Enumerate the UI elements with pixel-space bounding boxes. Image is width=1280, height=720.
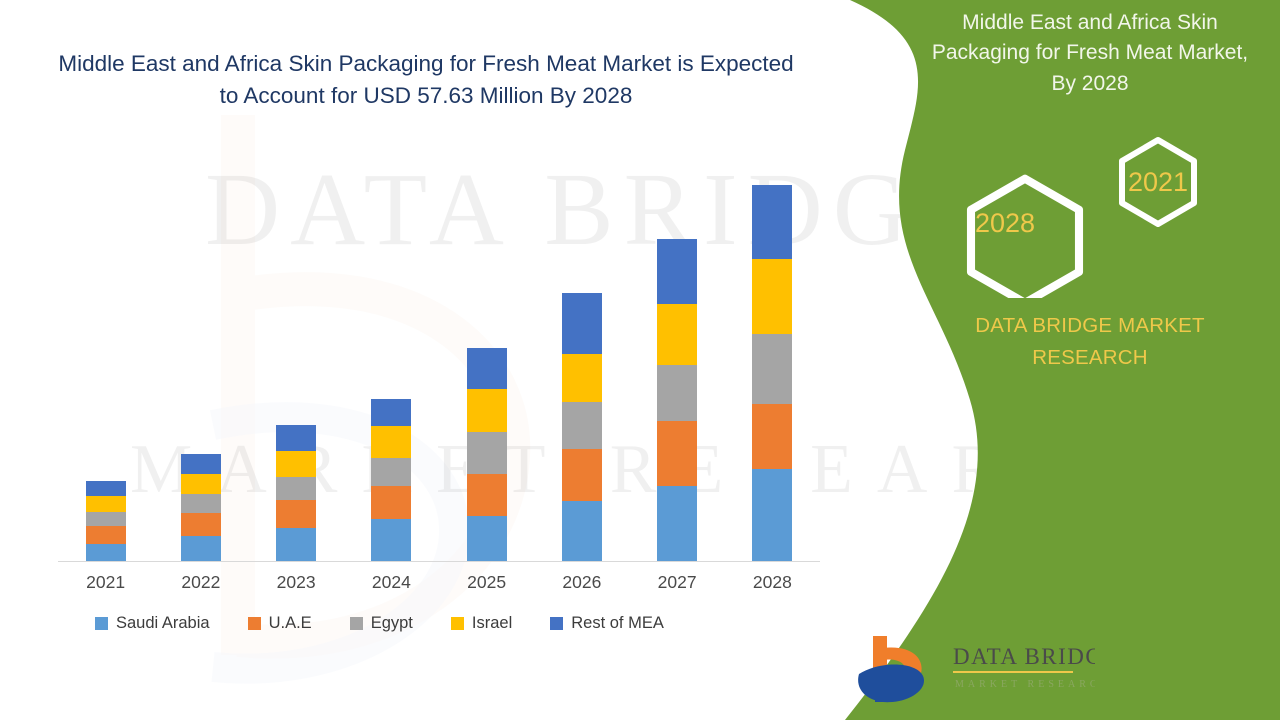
bar-segment-2021-israel[interactable] [86, 496, 126, 512]
x-axis-label-2023: 2023 [251, 572, 341, 593]
legend-swatch [248, 617, 261, 630]
bar-segment-2026-egypt[interactable] [562, 402, 602, 448]
brand-panel: Middle East and Africa Skin Packaging fo… [820, 0, 1280, 720]
legend-label: Rest of MEA [571, 614, 664, 633]
bar-segment-2023-u-a-e[interactable] [276, 500, 316, 527]
hexagon-2028-label: 2028 [975, 208, 1035, 238]
hexagon-2028-icon [971, 179, 1079, 298]
bar-segment-2025-saudi-arabia[interactable] [467, 516, 507, 561]
bar-segment-2026-saudi-arabia[interactable] [562, 501, 602, 561]
hexagon-badges-svg: 2028 2021 [920, 128, 1260, 298]
x-axis-label-2024: 2024 [346, 572, 436, 593]
bar-segment-2026-rest-of-mea[interactable] [562, 293, 602, 354]
bar-segment-2022-egypt[interactable] [181, 494, 221, 513]
x-axis-line [58, 561, 820, 562]
bar-segment-2021-u-a-e[interactable] [86, 526, 126, 544]
legend-item-israel[interactable]: Israel [451, 614, 512, 633]
dbmr-b-logo-icon [858, 636, 924, 702]
bar-segment-2028-egypt[interactable] [752, 334, 792, 404]
x-axis-label-2026: 2026 [537, 572, 627, 593]
infographic-canvas: DATA BRIDGE MARKET RESEARCH Middle East … [0, 0, 1280, 720]
x-axis-label-2028: 2028 [727, 572, 817, 593]
bar-column-2023[interactable] [276, 425, 316, 561]
bar-segment-2028-rest-of-mea[interactable] [752, 185, 792, 259]
bar-segment-2022-israel[interactable] [181, 474, 221, 494]
bar-column-2026[interactable] [562, 293, 602, 561]
legend-item-u-a-e[interactable]: U.A.E [248, 614, 312, 633]
bar-segment-2024-israel[interactable] [371, 426, 411, 458]
legend-swatch [350, 617, 363, 630]
legend-item-egypt[interactable]: Egypt [350, 614, 413, 633]
bar-segment-2025-u-a-e[interactable] [467, 474, 507, 516]
bar-segment-2026-u-a-e[interactable] [562, 449, 602, 501]
bar-segment-2025-egypt[interactable] [467, 432, 507, 474]
legend-item-saudi-arabia[interactable]: Saudi Arabia [95, 614, 210, 633]
bar-column-2021[interactable] [86, 481, 126, 561]
bar-segment-2021-saudi-arabia[interactable] [86, 544, 126, 561]
bar-segment-2021-rest-of-mea[interactable] [86, 481, 126, 496]
bar-segment-2027-rest-of-mea[interactable] [657, 239, 697, 304]
dbmr-logo-secondary: MARKET RESEARCH [955, 679, 1095, 690]
bar-column-2025[interactable] [467, 348, 507, 561]
legend-item-rest-of-mea[interactable]: Rest of MEA [550, 614, 664, 633]
brand-name: DATA BRIDGE MARKET RESEARCH [930, 310, 1250, 374]
bar-segment-2022-saudi-arabia[interactable] [181, 536, 221, 561]
bar-segment-2022-rest-of-mea[interactable] [181, 454, 221, 474]
bar-segment-2028-u-a-e[interactable] [752, 404, 792, 469]
x-axis-labels: 20212022202320242025202620272028 [58, 572, 820, 602]
bar-segment-2023-egypt[interactable] [276, 477, 316, 500]
bar-column-2022[interactable] [181, 454, 221, 561]
dbmr-logo: DATA BRIDGE MARKET RESEARCH [845, 630, 1095, 708]
chart-plot-area [58, 160, 820, 562]
x-axis-label-2025: 2025 [442, 572, 532, 593]
bar-segment-2028-saudi-arabia[interactable] [752, 469, 792, 561]
bar-segment-2027-saudi-arabia[interactable] [657, 486, 697, 561]
x-axis-label-2021: 2021 [61, 572, 151, 593]
bar-column-2024[interactable] [371, 399, 411, 561]
bar-segment-2023-rest-of-mea[interactable] [276, 425, 316, 451]
bar-column-2027[interactable] [657, 239, 697, 561]
bar-segment-2025-israel[interactable] [467, 389, 507, 432]
bar-column-2028[interactable] [752, 185, 792, 561]
legend-label: Israel [472, 614, 512, 633]
bar-segment-2026-israel[interactable] [562, 354, 602, 402]
legend-swatch [550, 617, 563, 630]
bar-segment-2024-rest-of-mea[interactable] [371, 399, 411, 426]
x-axis-label-2027: 2027 [632, 572, 722, 593]
x-axis-label-2022: 2022 [156, 572, 246, 593]
bar-segment-2023-saudi-arabia[interactable] [276, 528, 316, 561]
chart-title: Middle East and Africa Skin Packaging fo… [56, 48, 796, 113]
legend-label: U.A.E [269, 614, 312, 633]
legend-label: Saudi Arabia [116, 614, 210, 633]
dbmr-logo-svg: DATA BRIDGE MARKET RESEARCH [845, 630, 1095, 708]
bar-segment-2027-egypt[interactable] [657, 365, 697, 421]
legend-label: Egypt [371, 614, 413, 633]
bar-segment-2024-u-a-e[interactable] [371, 486, 411, 519]
bar-segment-2028-israel[interactable] [752, 259, 792, 334]
bar-segment-2023-israel[interactable] [276, 451, 316, 477]
hexagon-2021-label: 2021 [1128, 167, 1188, 197]
bar-segment-2024-egypt[interactable] [371, 458, 411, 486]
chart-legend: Saudi ArabiaU.A.EEgyptIsraelRest of MEA [95, 614, 702, 633]
bar-segment-2024-saudi-arabia[interactable] [371, 519, 411, 561]
bar-segment-2027-israel[interactable] [657, 304, 697, 365]
panel-title: Middle East and Africa Skin Packaging fo… [920, 8, 1260, 99]
bar-segment-2025-rest-of-mea[interactable] [467, 348, 507, 389]
legend-swatch [451, 617, 464, 630]
bar-segment-2022-u-a-e[interactable] [181, 513, 221, 536]
bar-segment-2027-u-a-e[interactable] [657, 421, 697, 486]
bar-segment-2021-egypt[interactable] [86, 512, 126, 526]
hexagon-badges: 2028 2021 [920, 128, 1260, 298]
dbmr-logo-primary: DATA BRIDGE [953, 644, 1095, 669]
legend-swatch [95, 617, 108, 630]
